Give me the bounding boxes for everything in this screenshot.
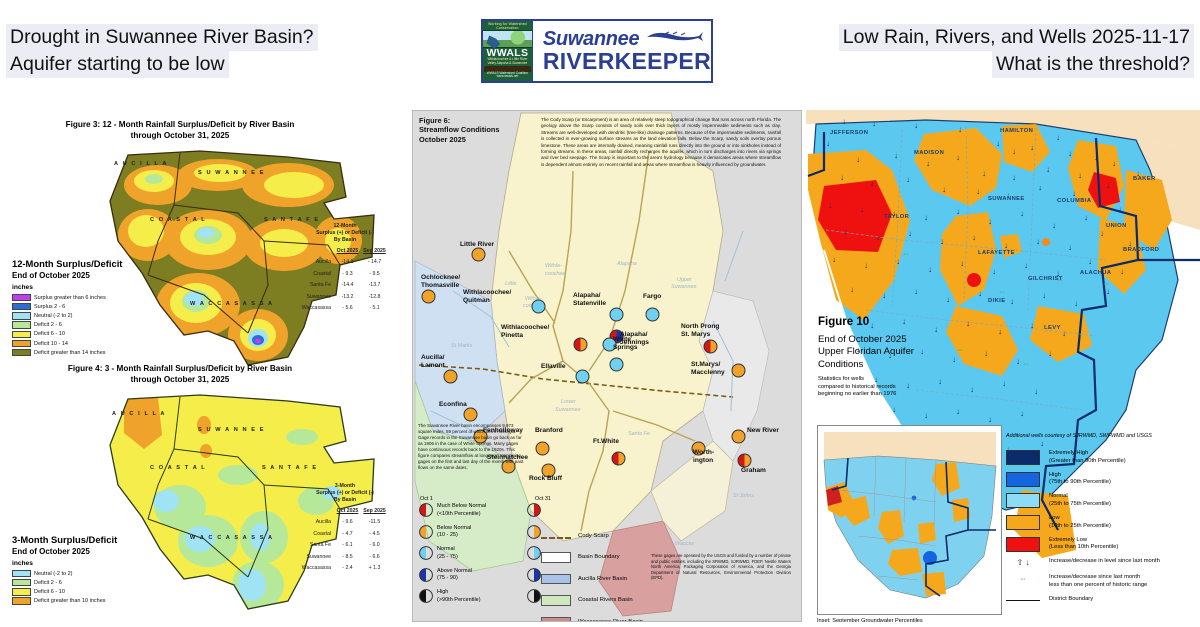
figure10-legend-text: Extremely Low(Less than 10th Percentile): [1049, 537, 1118, 552]
figure6-gage-marker[interactable]: [731, 363, 746, 378]
figure10-credit: Additional wells courtesy of SJRWMD, SWF…: [1006, 433, 1152, 439]
figure6-gage-label: WhiteSprings: [613, 336, 638, 351]
figure6-gage-marker[interactable]: [609, 357, 624, 372]
figure3-legend-swatch: [12, 294, 31, 301]
figure6-gage-marker[interactable]: [645, 307, 660, 322]
figure3-legend: 12-Month Surplus/Deficit End of October …: [12, 257, 172, 357]
figure10-decrease-arrow-icon: ↓: [872, 120, 876, 128]
figure6-legend-key-row: Coastal Rivers Basin: [541, 590, 643, 612]
figure4-data-table: 3-Month Surplus (+) or Deficit (-) By Ba…: [290, 483, 400, 571]
figure6-legend-symbol: [527, 546, 541, 560]
figure4-caption-text: 3 - Month Rainfall Surplus/Deficit by Ri…: [105, 364, 292, 373]
figure4-legend-label: Deficit 2 - 6: [34, 580, 62, 586]
figure10-subtitle-line1: End of October 2025: [818, 334, 914, 346]
figure6-gage-label: Ellaville: [541, 363, 566, 371]
figure6-gage-marker[interactable]: [471, 247, 486, 262]
figure6-gage-label-line2: Macclenny: [691, 369, 725, 377]
figure10-decrease-arrow-icon: ↓: [1052, 222, 1056, 230]
figure6-gage-marker[interactable]: [421, 289, 436, 304]
figure10-legend-row: Extremely High(Greater than 90th Percent…: [1006, 450, 1196, 465]
figure10-decrease-arrow-icon: ↓: [1072, 190, 1076, 198]
figure6-legend-key-swatch: [541, 595, 571, 606]
figure10-decrease-arrow-icon: ↓: [988, 218, 992, 226]
figure6-watermark: coochee: [545, 271, 565, 277]
figure10-legend: Extremely High(Greater than 90th Percent…: [1006, 450, 1196, 610]
figure6-legend-class-range: (10 - 25): [437, 532, 513, 540]
figure10-legend-swatch: [1006, 450, 1040, 465]
figure4-label-coastal: C O A S T A L: [150, 465, 206, 471]
figure6-gage-marker[interactable]: [463, 407, 478, 422]
figure3-legend-row: Deficit 2 - 6: [12, 321, 172, 330]
figure10-legend-label: High: [1049, 472, 1111, 480]
figure4-caption-line2: through October 31, 2025: [131, 375, 230, 384]
figure3-table-corner: [290, 248, 334, 254]
figure10-legend-rows: Extremely High(Greater than 90th Percent…: [1006, 450, 1196, 552]
figure6-gage-marker[interactable]: [609, 307, 624, 322]
figure10-subtitle-line2: Upper Floridan Aquifer: [818, 346, 914, 358]
figure10-inset-svg: [818, 426, 1002, 615]
figure4-legend-swatch: [12, 588, 31, 595]
figure6-col-oct31-header: Oct 31: [535, 496, 551, 502]
figure4-caption: Figure 4: 3 - Month Rainfall Surplus/Def…: [10, 363, 350, 385]
figure3-label-waccasassa: W A C C A S A S S A: [190, 301, 274, 307]
figure10-symbol-text: Increase/decrease in level since last mo…: [1049, 558, 1160, 566]
figure10-county-label: BAKER: [1133, 176, 1156, 182]
figure4-table-sep-value: - 6.0: [361, 542, 388, 548]
figure10-minimal-change-icon: ⇔: [956, 346, 964, 354]
figure6-gage-marker[interactable]: [737, 453, 752, 468]
figure6-legend-class-range: (>90th Percentile): [437, 597, 513, 605]
figure10-legend-label: Extremely Low: [1049, 537, 1118, 545]
figure10-decrease-arrow-icon: ↓: [984, 350, 988, 358]
figure10-county-label: MADISON: [914, 150, 944, 156]
figure6-legend-symbol: [419, 546, 433, 560]
figure10-county-label: BRADFORD: [1123, 247, 1159, 253]
figure6-legend-key-swatch: [541, 574, 571, 585]
figure10-decrease-arrow-icon: ↓: [1120, 268, 1124, 276]
figure10-decrease-arrow-icon: ↓: [1038, 184, 1042, 192]
figure10-decrease-arrow-icon: ↓: [892, 406, 896, 414]
figure6-legend-key-swatch: [541, 537, 571, 539]
figure10-county-label: GILCHRIST: [1028, 276, 1063, 282]
figure6-watermark: Withla-: [545, 263, 562, 269]
figure4-legend-subtitle: End of October 2025: [12, 546, 172, 558]
figure6-legend-class-label: Below Normal: [437, 525, 513, 533]
figure6-gage-label-line1: Alapaha/: [573, 292, 606, 300]
figure6-gage-label: Ochlocknee/Thomasville: [421, 274, 460, 289]
district-boundary-line-icon: [1006, 600, 1040, 601]
figure10-decrease-arrow-icon: ↓: [972, 234, 976, 242]
figure10-decrease-arrow-icon: ↓: [958, 126, 962, 134]
figure10-county-label: SUWANNEE: [988, 196, 1025, 202]
figure10-note-line3: beginning no earlier than 1976: [818, 391, 914, 399]
figure10-decrease-arrow-icon: ↓: [1056, 134, 1060, 142]
figure10-symbol-text: Increase/decrease since last monthless t…: [1049, 574, 1147, 589]
figure10-decrease-arrow-icon: ↓: [1118, 206, 1122, 214]
figure6-gage-marker[interactable]: [443, 369, 458, 384]
figure3-number: Figure 3:: [66, 120, 101, 129]
figure6-legend-symbol: [527, 503, 541, 517]
figure6-watermark: Santa Fe: [628, 431, 650, 437]
figure6-streamflow-map: Figure 6: Streamflow Conditions October …: [412, 110, 802, 622]
figure3-table-sep-value: -12.8: [361, 294, 388, 300]
figure6-gage-label-line1: Branford: [535, 427, 563, 435]
figure6-watermark: Alapaha: [617, 261, 637, 267]
figure6-watermark: St Marks: [451, 343, 472, 349]
figure10-county-label: UNION: [1106, 223, 1127, 229]
figure10-decrease-arrow-icon: ↓: [976, 188, 980, 196]
figure4-table-oct-value: - 8.5: [334, 554, 361, 560]
figure6-gage-label: Worth-ington: [693, 449, 714, 464]
figure6-col-oct1-header: Oct 1: [420, 496, 433, 502]
figure4-table-title1: 3-Month: [290, 483, 400, 490]
suwannee-riverkeeper-logo: Working for Watershed Conservation WWALS…: [481, 19, 713, 83]
figure10-decrease-arrow-icon: ↓: [876, 234, 880, 242]
figure4-legend-title: 3-Month Surplus/Deficit: [12, 533, 172, 546]
figure10-decrease-arrow-icon: ↓: [1068, 244, 1072, 252]
figure10-county-label: LAFAYETTE: [978, 250, 1015, 256]
header-right-line1: Low Rain, Rivers, and Wells 2025-11-17: [839, 24, 1194, 51]
figure10-decrease-arrow-icon: ↓: [1030, 144, 1034, 152]
figure10-legend-label: Low: [1049, 515, 1111, 523]
figure10-decrease-arrow-icon: ↓: [894, 152, 898, 160]
figure10-legend-range: (25th to 75th Percentile): [1049, 501, 1111, 509]
figure6-watermark: Little: [505, 281, 516, 287]
figure10-legend-text: High(75th to 90th Percentile): [1049, 472, 1111, 487]
figure3-table-basin-name: Aucilla: [290, 259, 334, 265]
figure10-decrease-arrow-icon: ↓: [940, 238, 944, 246]
figure6-gage-label: Fargo: [643, 293, 661, 301]
figure6-legend-class-text: Below Normal(10 - 25): [437, 525, 513, 540]
figure10-decrease-arrow-icon: ↓: [908, 230, 912, 238]
figure6-watermark: St Johns: [733, 493, 754, 499]
figure6-title: Figure 6: Streamflow Conditions October …: [419, 116, 499, 144]
riverkeeper-wordmark: Suwannee RIVERKEEPER: [533, 21, 711, 81]
header-right-title: Low Rain, Rivers, and Wells 2025-11-17 W…: [839, 24, 1194, 78]
header-left-line2: Aquifer starting to be low: [6, 51, 229, 78]
figure6-gage-label-line1: New River: [747, 427, 779, 435]
figure6-gage-label-line2: Thomasville: [421, 282, 460, 290]
figure10-legend-range: (75th to 90th Percentile): [1049, 479, 1111, 487]
figure3-table-title3: By Basin: [290, 237, 400, 244]
figure3-legend-swatch: [12, 340, 31, 347]
figure4-table-basin-name: Suwannee: [290, 554, 334, 560]
left-panel-rainfall-figures: Figure 3: 12 - Month Rainfall Surplus/De…: [0, 105, 410, 627]
right-panel-aquifer: JEFFERSONMADISONHAMILTONBAKERTAYLORSUWAN…: [806, 110, 1200, 622]
figure10-decrease-arrow-icon: ↓: [1046, 166, 1050, 174]
figure6-legend-keys: Cody ScarpBasin BoundaryAucilla River Ba…: [541, 525, 643, 622]
figure6-basin-description: The Suwannee River basin encompasses 9,9…: [418, 423, 526, 471]
figure6-gage-marker[interactable]: [531, 299, 546, 314]
figure3-legend-label: Neutral (-2 to 2): [34, 313, 73, 319]
figure4-legend-rows: Neutral (-2 to 2)Deficit 2 - 6Deficit 6 …: [12, 569, 172, 606]
figure10-decrease-arrow-icon: ↓: [996, 140, 1000, 148]
figure10-decrease-arrow-icon: ↓: [1068, 150, 1072, 158]
figure10-legend-swatch: [1006, 493, 1040, 508]
figure3-table-sep-value: - 5.1: [361, 305, 388, 311]
figure4-legend-units: inches: [12, 558, 172, 569]
figure6-legend-key-label: Coastal Rivers Basin: [578, 597, 633, 603]
figure3-label-aucilla: A U C I L L A: [114, 161, 168, 167]
figure10-decrease-arrow-icon: ↓: [966, 320, 970, 328]
figure10-decrease-arrow-icon: ↓: [1040, 440, 1044, 448]
figure6-gage-label-line1: Withlacoochee/: [501, 324, 549, 332]
figure4-table-basin-name: Aucilla: [290, 519, 334, 525]
figure10-title-block: Figure 10 End of October 2025 Upper Flor…: [818, 315, 914, 399]
figure10-legend-text: Low(10th to 25th Percentile): [1049, 515, 1111, 530]
figure10-decrease-arrow-icon: ↓: [924, 412, 928, 420]
figure6-legend-class-text: High(>90th Percentile): [437, 589, 513, 604]
figure3-legend-title: 12-Month Surplus/Deficit: [12, 257, 172, 270]
figure6-legend-key-swatch: [541, 552, 571, 563]
figure3-caption-text: 12 - Month Rainfall Surplus/Deficit by R…: [102, 120, 294, 129]
figure4-table-corner: [290, 508, 334, 514]
figure6-legend-class-text: Much Below Normal(<10th Percentile): [437, 503, 513, 518]
figure6-legend-symbol: [527, 568, 541, 582]
figure6-gage-label-line1: Graham: [741, 467, 766, 475]
figure10-decrease-arrow-icon: ↓: [860, 206, 864, 214]
figure10-decrease-arrow-icon: ↓: [956, 208, 960, 216]
figure6-gage-label: Withlacoochee/Pinetta: [501, 324, 549, 339]
figure6-gage-label-line2: Lamont: [421, 362, 445, 370]
figure6-legend-key-label: Basin Boundary: [578, 554, 620, 560]
figure4-table-sep-value: + 1.3: [361, 565, 388, 571]
figure4-label-aucilla: A U C I L L A: [112, 411, 166, 417]
figure3-legend-subtitle: End of October 2025: [12, 270, 172, 282]
figure6-gage-label: Rock Bluff: [529, 475, 562, 483]
figure4-table-sep-value: - 4.5: [361, 531, 388, 537]
figure10-decrease-arrow-icon: ↓: [864, 262, 868, 270]
figure6-title-line2: Streamflow Conditions: [419, 125, 499, 134]
figure10-legend-row: Normal(25th to 75th Percentile): [1006, 493, 1196, 508]
figure4-table-basin-name: Waccasassa: [290, 565, 334, 571]
figure10-county-label: TAYLOR: [884, 214, 909, 220]
figure10-decrease-arrow-icon: ↓: [1020, 210, 1024, 218]
figure6-gage-label: Aucilla/Lamont: [421, 354, 445, 369]
figure6-gage-marker[interactable]: [535, 441, 550, 456]
figure10-decrease-arrow-icon: ↓: [956, 154, 960, 162]
figure10-legend-range: (10th to 25th Percentile): [1049, 523, 1111, 531]
figure10-inset-map: [817, 425, 1002, 615]
figure10-decrease-arrow-icon: ↓: [896, 258, 900, 266]
figure4-legend-swatch: [12, 579, 31, 586]
center-panel-streamflow: Figure 6: Streamflow Conditions October …: [412, 110, 802, 622]
figure3-legend-row: Deficit 10 - 14: [12, 339, 172, 348]
figure4-legend-row: Deficit greater than 10 inches: [12, 597, 172, 606]
figure10-decrease-arrow-icon: ↓: [882, 292, 886, 300]
figure10-decrease-arrow-icon: ↓: [842, 118, 846, 126]
fish-icon: [643, 30, 705, 43]
wwals-badge-footer: WWALS Watershed Coalition www.wwals.net: [484, 72, 531, 79]
figure10-symbol-label: District Boundary: [1049, 596, 1093, 604]
figure10-decrease-arrow-icon: ↓: [988, 416, 992, 424]
figure10-decrease-arrow-icon: ↓: [934, 326, 938, 334]
figure10-legend-row: High(75th to 90th Percentile): [1006, 472, 1196, 487]
figure10-decrease-arrow-icon: ↓: [960, 260, 964, 268]
figure10-symbol-rows: ⇧ ↓Increase/decrease in level since last…: [1006, 558, 1196, 603]
figure10-legend-text: Extremely High(Greater than 90th Percent…: [1049, 450, 1126, 465]
figure6-gage-label-line2: Statenville: [573, 300, 606, 308]
figure4-table-basin-name: Coastal: [290, 531, 334, 537]
figure10-decrease-arrow-icon: ↓: [832, 256, 836, 264]
figure10-decrease-arrow-icon: ↓: [1016, 358, 1020, 366]
figure6-legend-key-label: Waccasassa River Basin: [578, 619, 643, 622]
figure10-decrease-arrow-icon: ↓: [946, 296, 950, 304]
figure3-table-title2: Surplus (+) or Deficit (-): [290, 230, 400, 237]
figure4-legend-row: Deficit 2 - 6: [12, 578, 172, 587]
figure3-legend-units: inches: [12, 282, 172, 293]
figure6-gage-label-line1: Econfina: [439, 401, 467, 409]
figure10-decrease-arrow-icon: ↓: [1074, 300, 1078, 308]
figure3-label-suwannee: S U W A N N E E: [198, 170, 265, 176]
figure10-legend-label: Normal: [1049, 493, 1111, 501]
figure10-decrease-arrow-icon: ↓: [970, 386, 974, 394]
figure4-table-title3: By Basin: [290, 497, 400, 504]
figure6-legend-class-range: (25 - 75): [437, 554, 513, 562]
figure10-decrease-arrow-icon: ↓: [992, 268, 996, 276]
figure10-decrease-arrow-icon: ↓: [906, 176, 910, 184]
figure6-legend-class-range: (75 - 90): [437, 575, 513, 583]
figure10-aquifer-map: JEFFERSONMADISONHAMILTONBAKERTAYLORSUWAN…: [806, 110, 1200, 622]
figure6-gage-marker[interactable]: [703, 339, 718, 354]
figure4-number: Figure 4:: [68, 364, 103, 373]
figure6-gage-label: Graham: [741, 467, 766, 475]
figure6-gage-marker[interactable]: [611, 451, 626, 466]
figure4-table-col2-header: Sep 2025: [361, 508, 388, 514]
figure6-legend-key-row: Cody Scarp: [541, 525, 643, 547]
figure3-legend-label: Surplus 2 - 6: [34, 304, 65, 310]
wwals-badge-top-text: Working for Watershed Conservation: [484, 23, 531, 30]
figure4-table-oct-value: - 4.7: [334, 531, 361, 537]
figure4-table-sep-value: - 6.6: [361, 554, 388, 560]
figure3-caption: Figure 3: 12 - Month Rainfall Surplus/De…: [10, 119, 350, 141]
figure4-table-oct-value: - 6.1: [334, 542, 361, 548]
figure6-gage-label-line1: Little River: [460, 241, 494, 249]
figure3-legend-swatch: [12, 349, 31, 356]
figure4-legend: 3-Month Surplus/Deficit End of October 2…: [12, 533, 172, 606]
header-left-line1: Drought in Suwannee River Basin?: [6, 24, 318, 51]
figure3-table-sep-value: - 14.7: [361, 259, 388, 265]
figure6-gage-label-line1: Worth-: [693, 449, 714, 457]
figure4-table-col1-header: Oct 2025: [334, 508, 361, 514]
figure3-legend-swatch: [12, 331, 31, 338]
figure10-decrease-arrow-icon: ↓: [920, 348, 924, 356]
figure10-decrease-arrow-icon: ↓: [840, 174, 844, 182]
figure3-legend-rows: Surplus greater than 6 inchesSurplus 2 -…: [12, 293, 172, 357]
figure10-decrease-arrow-icon: ↓: [870, 180, 874, 188]
header-right-line2: What is the threshold?: [992, 51, 1194, 78]
figure10-decrease-arrow-icon: ↓: [1100, 230, 1104, 238]
figure10-decrease-arrow-icon: ↓: [1010, 298, 1014, 306]
figure4-label-suwannee: S U W A N N E E: [198, 427, 265, 433]
figure6-legend-key-row: Waccasassa River Basin: [541, 611, 643, 622]
figure4-legend-label: Deficit greater than 10 inches: [34, 598, 106, 604]
figure10-inset-caption: Inset: September Groundwater Percentiles: [817, 618, 923, 622]
figure6-gage-label: Little River: [460, 241, 494, 249]
figure10-county-label: ALACHUA: [1080, 270, 1111, 276]
figure6-legend-class-label: Normal: [437, 546, 513, 554]
figure6-legend-symbol: [527, 589, 541, 603]
figure4-legend-swatch: [12, 597, 31, 604]
figure6-gage-label-line2: Springs: [613, 344, 638, 352]
figure10-decrease-arrow-icon: ↓: [956, 408, 960, 416]
figure10-decrease-arrow-icon: ↓: [1088, 258, 1092, 266]
figure3-legend-row: Surplus greater than 6 inches: [12, 293, 172, 302]
figure10-trend-symbol-icon: ⇧ ↓: [1006, 558, 1040, 567]
figure4-table-title2: Surplus (+) or Deficit (-): [290, 490, 400, 497]
figure10-symbol-row: ⇧ ↓Increase/decrease in level since last…: [1006, 558, 1196, 567]
figure6-gage-label: Alapaha/Statenville: [573, 292, 606, 307]
figure10-symbol-label: Increase/decrease in level since last mo…: [1049, 558, 1160, 566]
figure10-decrease-arrow-icon: ↓: [1062, 330, 1066, 338]
figure3-table-sep-value: - 9.5: [361, 271, 388, 277]
figure10-title: Figure 10: [818, 315, 914, 330]
figure10-symbol-text: District Boundary: [1049, 596, 1093, 604]
figure4-legend-label: Neutral (-2 to 2): [34, 571, 73, 577]
figure3-legend-row: Deficit 6 - 10: [12, 330, 172, 339]
figure6-legend-symbol: [419, 568, 433, 582]
figure10-decrease-arrow-icon: ↓: [850, 286, 854, 294]
figure10-decrease-arrow-icon: ↓: [1012, 174, 1016, 182]
figure10-decrease-arrow-icon: ↓: [978, 290, 982, 298]
figure10-decrease-arrow-icon: ↓: [1084, 214, 1088, 222]
figure6-title-line1: Figure 6:: [419, 116, 499, 125]
figure3-table-oct-value: - 5.6: [334, 305, 361, 311]
wwals-badge-icon: Working for Watershed Conservation WWALS…: [483, 21, 533, 81]
figure10-decrease-arrow-icon: ↓: [1036, 238, 1040, 246]
figure3-legend-swatch: [12, 321, 31, 328]
figure10-subtitle-line3: Conditions: [818, 359, 914, 371]
figure10-minimal-change-icon: ⇔: [1022, 360, 1030, 368]
figure10-decrease-arrow-icon: ↓: [856, 156, 860, 164]
figure6-legend-symbol: [419, 589, 433, 603]
figure4-table-oct-value: - 2.4: [334, 565, 361, 571]
figure10-decrease-arrow-icon: ↓: [1012, 148, 1016, 156]
figure6-gage-marker[interactable]: [573, 337, 588, 352]
figure6-watermark: Upper: [677, 277, 692, 283]
figure3-legend-row: Surplus 2 - 6: [12, 302, 172, 311]
figure10-decrease-arrow-icon: ↓: [1112, 160, 1116, 168]
figure3-legend-label: Deficit 10 - 14: [34, 341, 68, 347]
figure6-cody-scarp-text: The Cody Scarp (or Escarpment) is an are…: [541, 117, 781, 168]
figure3-table-col2-header: Sep 2025: [361, 248, 388, 254]
figure6-legend-key-swatch: [541, 617, 571, 623]
figure4-label-waccasassa: W A C C A S A S S A: [190, 535, 274, 541]
figure6-gage-label-line2: ington: [693, 457, 714, 465]
figure4-legend-row: Deficit 6 - 10: [12, 587, 172, 596]
figure6-gage-marker[interactable]: [731, 429, 746, 444]
figure3-legend-swatch: [12, 303, 31, 310]
figure3-table-grid: Oct 2025Sep 2025Aucilla-14.1- 14.7Coasta…: [290, 248, 400, 311]
figure10-decrease-arrow-icon: ↓: [1106, 182, 1110, 190]
figure6-gage-marker[interactable]: [575, 369, 590, 384]
figure6-gage-label-line2: St. Marys: [681, 331, 719, 339]
figure3-table-oct-value: -14.1: [334, 259, 361, 265]
figure6-legend-class-label: High: [437, 589, 513, 597]
figure6-legend-class-text: Above Normal(75 - 90): [437, 568, 513, 583]
figure4-table-basin-name: Santa Fe: [290, 542, 334, 548]
figure3-table-oct-value: - 9.3: [334, 271, 361, 277]
figure10-legend-row: Low(10th to 25th Percentile): [1006, 515, 1196, 530]
figure4-table-oct-value: - 9.6: [334, 519, 361, 525]
figure10-decrease-arrow-icon: ↓: [1078, 172, 1082, 180]
figure10-decrease-arrow-icon: ↓: [1004, 242, 1008, 250]
figure10-note-line1: Statistics for wells: [818, 376, 914, 384]
figure10-symbol-row: District Boundary: [1006, 596, 1196, 604]
figure10-note-line2: compared to historical records: [818, 384, 914, 392]
figure3-legend-label: Deficit 2 - 6: [34, 322, 62, 328]
figure10-county-label: COLUMBIA: [1057, 198, 1091, 204]
